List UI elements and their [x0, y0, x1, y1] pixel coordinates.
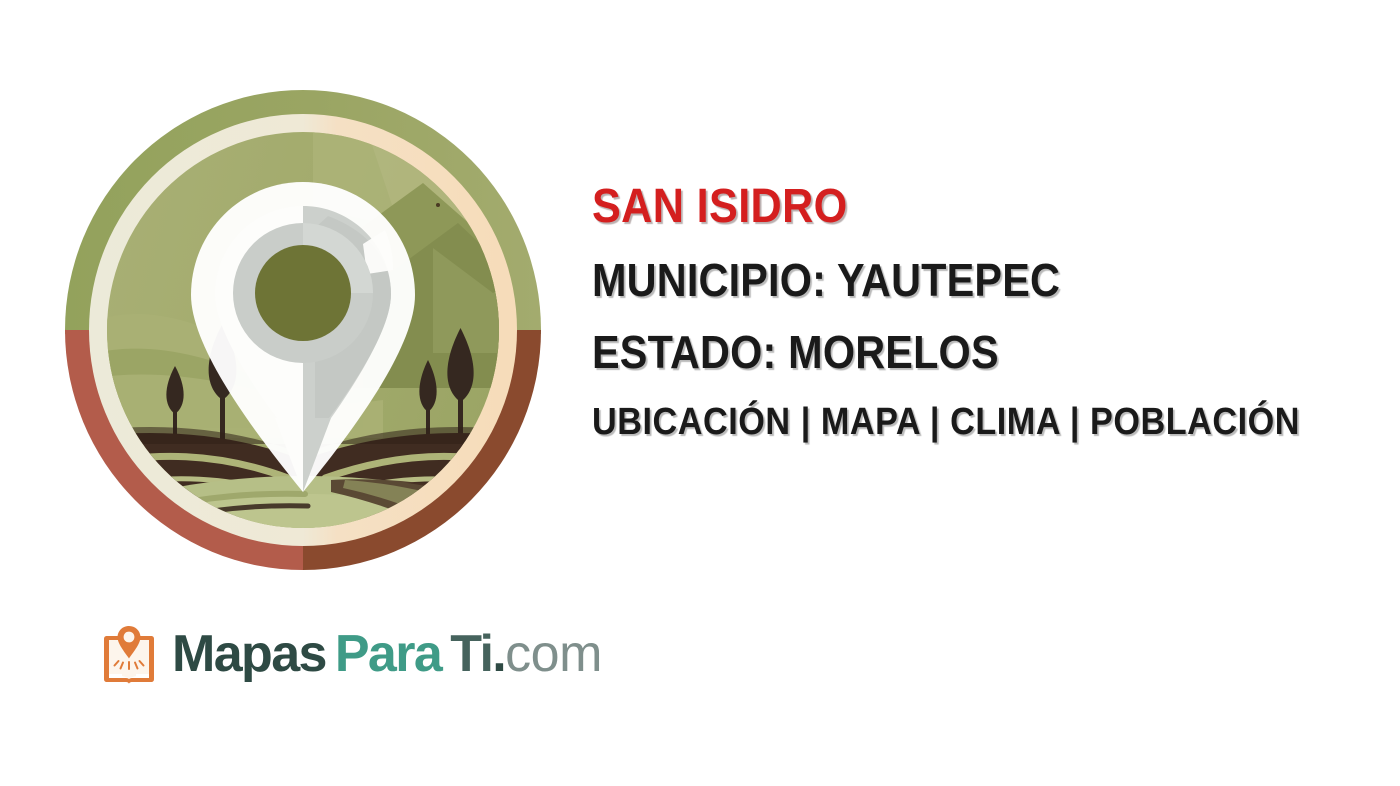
wordmark-para: Para — [335, 628, 441, 680]
rural-landscape-map-pin-emblem — [63, 88, 543, 572]
brand-logo[interactable]: MapasParaTi.com — [100, 616, 602, 692]
wordmark-dot: . — [492, 628, 505, 680]
municipio-label: MUNICIPIO: YAUTEPEC — [592, 257, 1312, 303]
location-info-panel: SAN ISIDRO MUNICIPIO: YAUTEPEC ESTADO: M… — [592, 183, 1392, 441]
page-title: SAN ISIDRO — [592, 183, 1312, 231]
open-book-map-pin-icon — [100, 623, 158, 685]
brand-wordmark: MapasParaTi.com — [172, 628, 602, 680]
wordmark-com: com — [505, 628, 602, 680]
wordmark-mapas: Mapas — [172, 628, 326, 680]
location-emblem — [63, 88, 543, 572]
wordmark-ti: Ti — [450, 628, 492, 680]
section-links[interactable]: UBICACIÓN | MAPA | CLIMA | POBLACIÓN — [592, 403, 1312, 441]
estado-label: ESTADO: MORELOS — [592, 329, 1312, 375]
speck-detail — [436, 203, 440, 207]
